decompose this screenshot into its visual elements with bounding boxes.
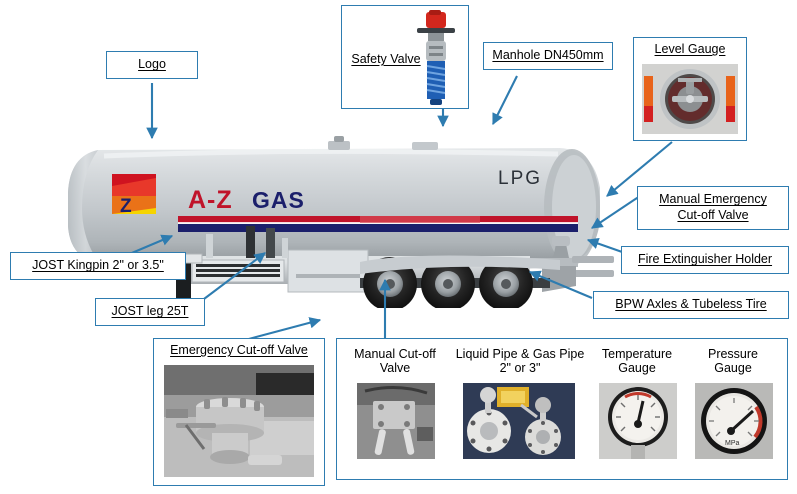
callout-logo[interactable]: Logo [106,51,198,79]
callout-manual-emergency[interactable]: Manual Emergency Cut-off Valve [637,186,789,230]
tank-top-fittings [328,136,438,150]
bottom-item-pressure-gauge-line2: Gauge [683,361,783,375]
bottom-item-liquid-gas-pipe-line1: Liquid Pipe & Gas Pipe [447,343,593,361]
panel-safety-valve[interactable]: Safety Valve [341,5,469,109]
callout-jost-leg-label: JOST leg 25T [112,304,189,320]
temperature-gauge-photo [599,383,677,459]
bottom-item-manual-cutoff-line2: Valve [343,361,447,375]
callout-bpw-axles[interactable]: BPW Axles & Tubeless Tire [593,291,789,319]
safety-valve-photo [412,10,458,106]
svg-text:Z: Z [120,196,132,217]
callout-bpw-axles-label: BPW Axles & Tubeless Tire [615,297,766,313]
callout-logo-label: Logo [138,57,166,73]
panel-bottom-components[interactable]: Manual Cut-off Valve Liquid Pipe & Gas P… [336,338,788,480]
panel-emergency-cutoff-valve[interactable]: Emergency Cut-off Valve [153,338,325,486]
panel-emergency-cutoff-valve-title: Emergency Cut-off Valve [154,339,324,357]
manual-cut-off-valve-photo [357,383,435,459]
equipment-louvre [192,260,284,282]
panel-safety-valve-title: Safety Valve [351,48,420,66]
callout-manhole-label: Manhole DN450mm [492,48,603,64]
svg-text:A-Z: A-Z [188,186,233,214]
bottom-item-temperature-gauge-line1: Temperature [585,343,689,361]
bottom-item-pressure-gauge-line1: Pressure [683,343,783,361]
callout-manual-emergency-line1: Manual Emergency [659,192,767,208]
axle-group [360,255,560,308]
callout-manual-emergency-line2: Cut-off Valve [677,208,748,224]
svg-text:GAS: GAS [252,187,305,213]
callout-manhole[interactable]: Manhole DN450mm [483,42,613,70]
bottom-item-manual-cutoff-line1: Manual Cut-off [343,343,447,361]
callout-jost-kingpin[interactable]: JOST Kingpin 2" or 3.5" [10,252,186,280]
bottom-item-liquid-gas-pipe-line2: 2" or 3" [447,361,593,375]
lpg-marking: LPG [498,168,542,189]
liquid-gas-pipe-photo [463,383,575,459]
callout-jost-leg[interactable]: JOST leg 25T [95,298,205,326]
svg-text:MPa: MPa [725,440,740,447]
callout-fire-extinguisher-label: Fire Extinguisher Holder [638,252,772,268]
bottom-item-temperature-gauge-line2: Gauge [585,361,689,375]
a-z-logo: Z [112,174,156,217]
panel-level-gauge[interactable]: Level Gauge [633,37,747,141]
emergency-cut-off-valve-photo [164,365,314,477]
body-stripe [178,216,578,232]
level-gauge-photo [642,64,738,134]
callout-fire-extinguisher[interactable]: Fire Extinguisher Holder [621,246,789,274]
callout-jost-kingpin-label: JOST Kingpin 2" or 3.5" [32,258,164,274]
panel-level-gauge-title: Level Gauge [634,38,746,56]
pressure-gauge-photo: MPa [695,383,773,459]
diagram-canvas: Z A-Z GAS LPG [0,0,797,494]
